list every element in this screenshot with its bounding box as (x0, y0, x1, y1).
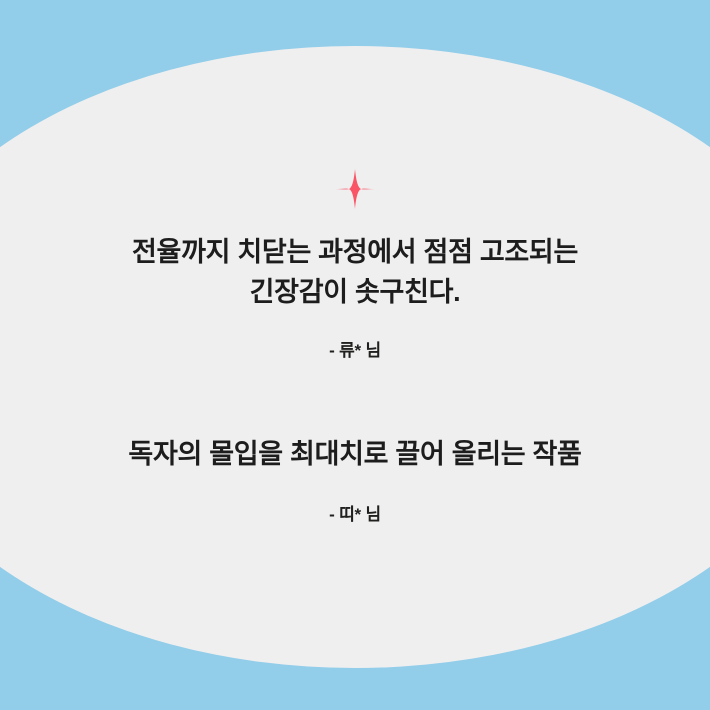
testimonial-2-author: - 띠* 님 (329, 500, 381, 525)
sparkle-icon (329, 163, 381, 215)
testimonial-2-text: 독자의 몰입을 최대치로 끌어 올리는 작품 (128, 435, 581, 475)
card-content: 전율까지 치닫는 과정에서 점점 고조되는 긴장감이 솟구친다. - 류* 님 … (0, 0, 710, 710)
testimonial-1-text: 전율까지 치닫는 과정에서 점점 고조되는 긴장감이 솟구친다. (132, 233, 578, 313)
testimonial-card: 전율까지 치닫는 과정에서 점점 고조되는 긴장감이 솟구친다. - 류* 님 … (0, 0, 710, 710)
testimonial-1: 전율까지 치닫는 과정에서 점점 고조되는 긴장감이 솟구친다. - 류* 님 (0, 233, 710, 361)
testimonial-2: 독자의 몰입을 최대치로 끌어 올리는 작품 - 띠* 님 (0, 435, 710, 525)
testimonial-1-author: - 류* 님 (329, 336, 381, 361)
